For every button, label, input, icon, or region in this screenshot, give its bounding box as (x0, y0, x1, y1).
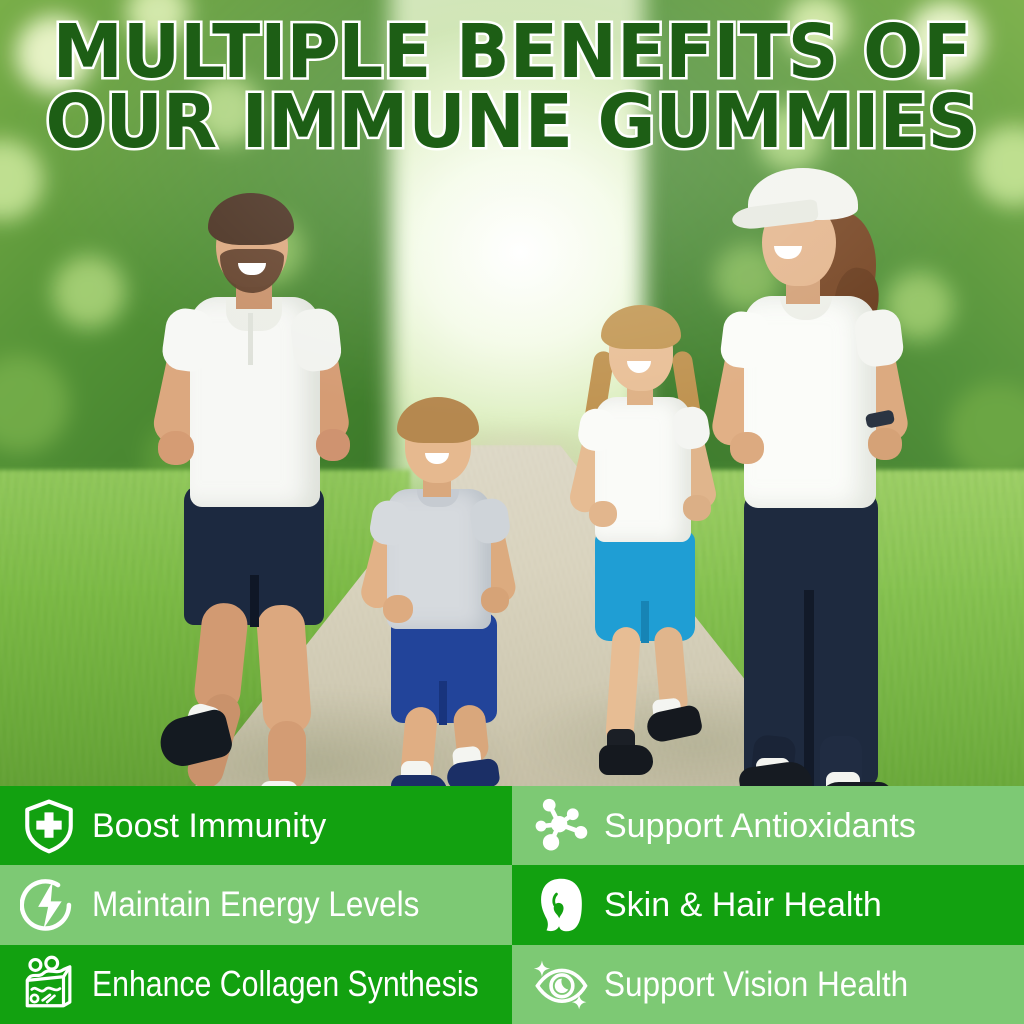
headline: MULTIPLE BENEFITS OF OUR IMMUNE GUMMIES (0, 18, 1024, 157)
runner-woman (700, 160, 950, 790)
man-placket (248, 313, 253, 365)
girl-shoe-left (599, 745, 653, 775)
benefit-skin-hair-health[interactable]: Skin & Hair Health (512, 865, 1024, 944)
man-shorts-split (250, 575, 259, 627)
man-fist-left (158, 431, 194, 465)
man-shin-right (268, 721, 306, 790)
headline-line-1: MULTIPLE BENEFITS OF (0, 18, 1024, 88)
man-fist-right (316, 429, 350, 461)
benefit-support-antioxidants[interactable]: Support Antioxidants (512, 786, 1024, 865)
benefit-support-vision-health[interactable]: Support Vision Health (512, 945, 1024, 1024)
benefit-label: Enhance Collagen Synthesis (92, 966, 479, 1002)
benefit-label: Support Vision Health (604, 967, 908, 1002)
woman-fist-left (730, 432, 764, 464)
eye-sparkle-icon (532, 955, 590, 1013)
boy-shorts-split (439, 681, 447, 725)
boy-hair (397, 397, 479, 443)
shield-cross-icon (20, 797, 78, 855)
woman-sleeve-right (853, 307, 905, 368)
molecule-icon (532, 797, 590, 855)
benefit-boost-immunity[interactable]: Boost Immunity (0, 786, 512, 865)
benefit-enhance-collagen-synthesis[interactable]: Enhance Collagen Synthesis (0, 945, 512, 1024)
lightning-bolt-circle-icon (20, 876, 78, 934)
benefit-label: Support Antioxidants (604, 809, 916, 843)
collagen-fibers-icon (20, 955, 78, 1013)
benefits-grid: Boost Immunity (0, 786, 1024, 1024)
man-thigh-right (256, 603, 313, 736)
woman-fist-right (868, 428, 902, 460)
headline-line-2: OUR IMMUNE GUMMIES (0, 88, 1024, 158)
benefit-maintain-energy-levels[interactable]: Maintain Energy Levels (0, 865, 512, 944)
product-benefits-infographic: MULTIPLE BENEFITS OF OUR IMMUNE GUMMIES … (0, 0, 1024, 1024)
benefit-label: Skin & Hair Health (604, 888, 882, 922)
benefit-label: Maintain Energy Levels (92, 887, 419, 922)
benefit-label: Boost Immunity (92, 809, 326, 843)
runner-man (140, 185, 380, 790)
boy-fist-right (481, 587, 509, 613)
girl-leg-left (605, 626, 641, 746)
boy-fist-left (383, 595, 413, 623)
woman-leg-split (804, 590, 814, 786)
girl-hair (601, 305, 681, 349)
woman-hair-silhouette-icon (532, 876, 590, 934)
runner-boy (355, 395, 535, 790)
girl-fist-left (589, 501, 617, 527)
man-sleeve-right (289, 307, 343, 374)
man-hair (208, 193, 294, 245)
girl-skirt-split (641, 601, 649, 643)
